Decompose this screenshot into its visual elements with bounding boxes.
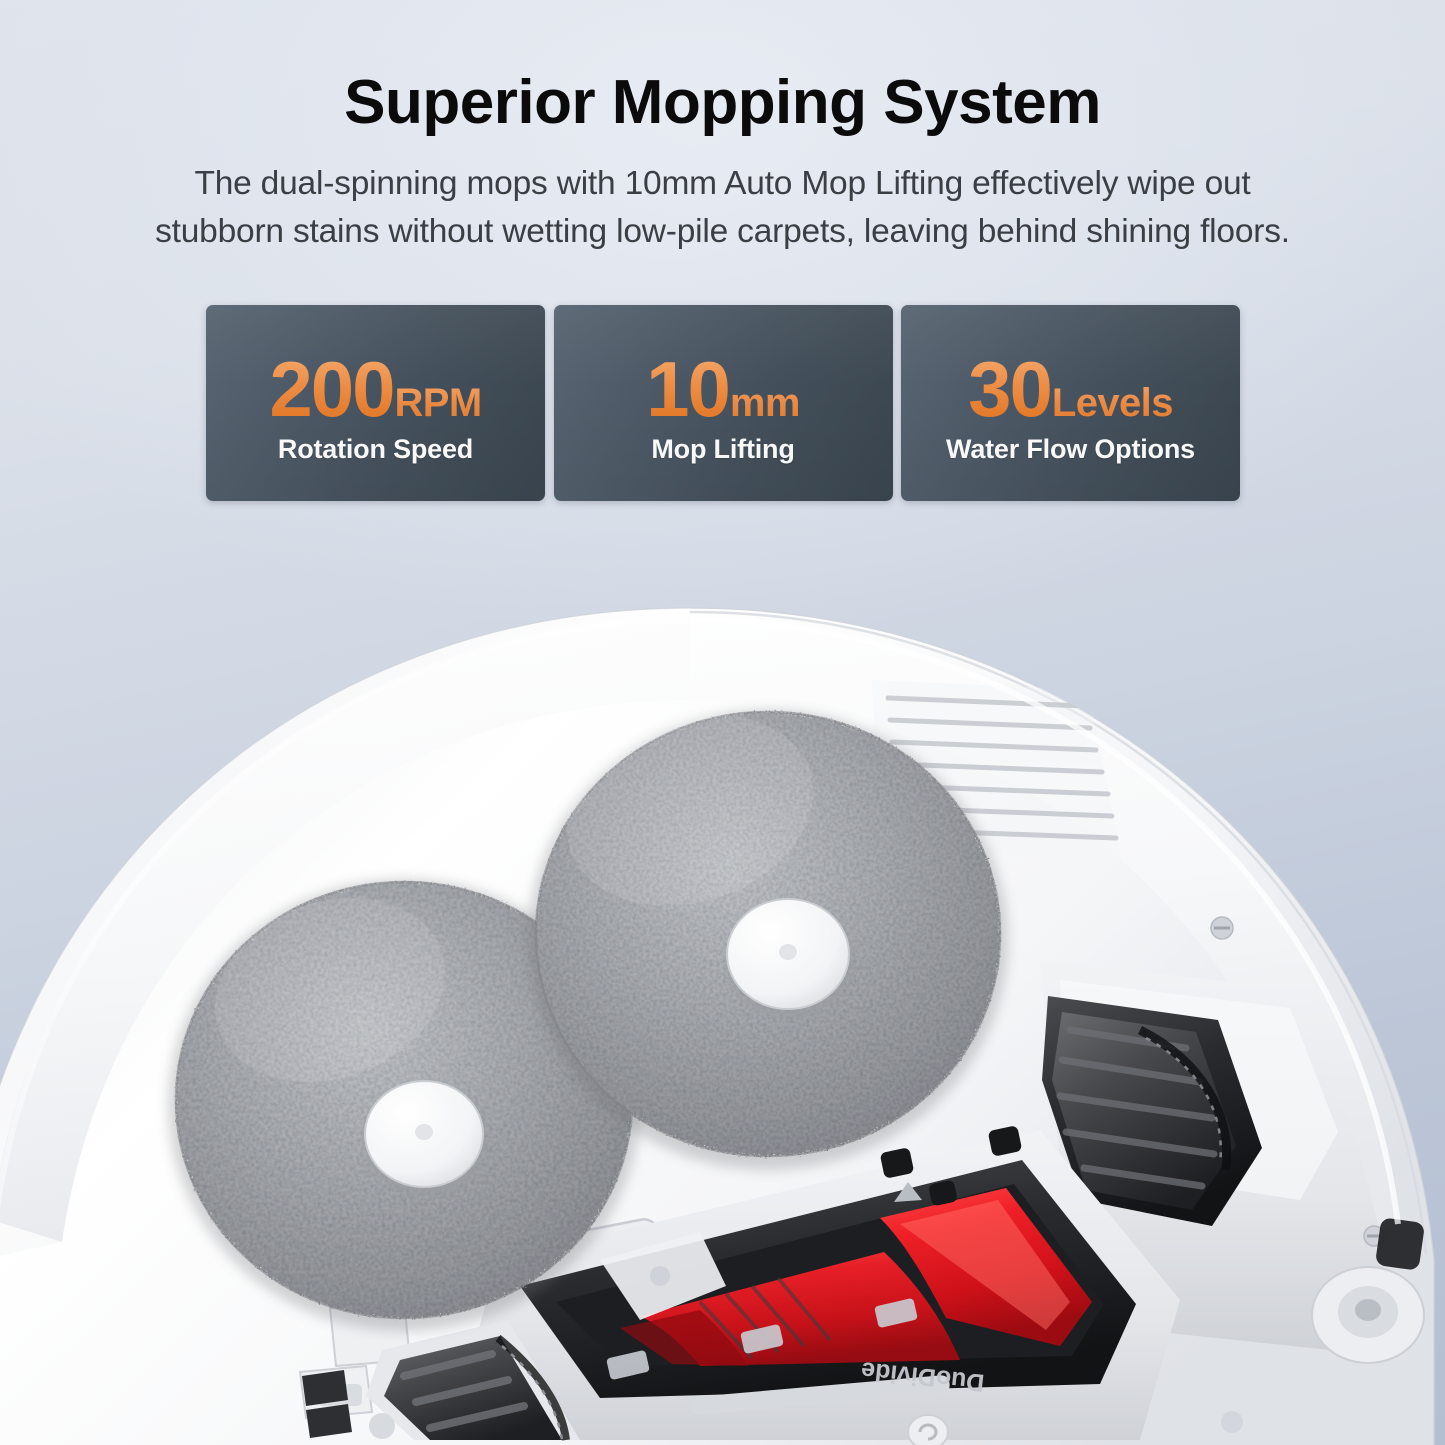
stat-unit-rotation-speed: RPM xyxy=(395,383,482,423)
subtitle-line-2: stubborn stains without wetting low-pile… xyxy=(63,208,1383,256)
chassis-boss-left xyxy=(369,1413,395,1439)
page-title: Superior Mopping System xyxy=(0,0,1445,134)
marketing-panel: Superior Mopping System The dual-spinnin… xyxy=(0,0,1445,1445)
chassis-screw-bottom xyxy=(1221,1411,1243,1433)
reset-button xyxy=(908,1415,948,1445)
chassis-screw-center xyxy=(650,1266,670,1286)
stat-value-rotation-speed: 200 RPM xyxy=(269,350,481,428)
stat-unit-mop-lifting: mm xyxy=(730,383,800,423)
stat-label-rotation-speed: Rotation Speed xyxy=(278,434,473,465)
stat-number-rotation-speed: 200 xyxy=(269,350,393,428)
header-block: Superior Mopping System The dual-spinnin… xyxy=(0,0,1445,255)
side-brush-hub xyxy=(1312,1267,1424,1363)
stat-card-mop-lifting: 10 mm Mop Lifting xyxy=(554,305,893,501)
product-illustration: DuoDivide xyxy=(0,608,1434,1445)
stat-label-water-flow: Water Flow Options xyxy=(946,434,1195,465)
product-photo-robot-vacuum-underside: DuoDivide xyxy=(0,560,1445,1445)
stat-number-water-flow: 30 xyxy=(968,350,1051,428)
subtitle-line-1: The dual-spinning mops with 10mm Auto Mo… xyxy=(63,160,1383,208)
bay-port xyxy=(1375,1217,1425,1271)
stat-card-row: 200 RPM Rotation Speed 10 mm Mop Lifting… xyxy=(206,305,1240,501)
page-subtitle: The dual-spinning mops with 10mm Auto Mo… xyxy=(63,134,1383,255)
stat-card-water-flow: 30 Levels Water Flow Options xyxy=(901,305,1240,501)
stat-card-rotation-speed: 200 RPM Rotation Speed xyxy=(206,305,545,501)
stat-unit-water-flow: Levels xyxy=(1052,383,1173,423)
stat-label-mop-lifting: Mop Lifting xyxy=(651,434,794,465)
stat-value-water-flow: 30 Levels xyxy=(968,350,1173,428)
robot-body: DuoDivide xyxy=(0,608,1434,1445)
stat-value-mop-lifting: 10 mm xyxy=(646,350,800,428)
stat-number-mop-lifting: 10 xyxy=(646,350,729,428)
